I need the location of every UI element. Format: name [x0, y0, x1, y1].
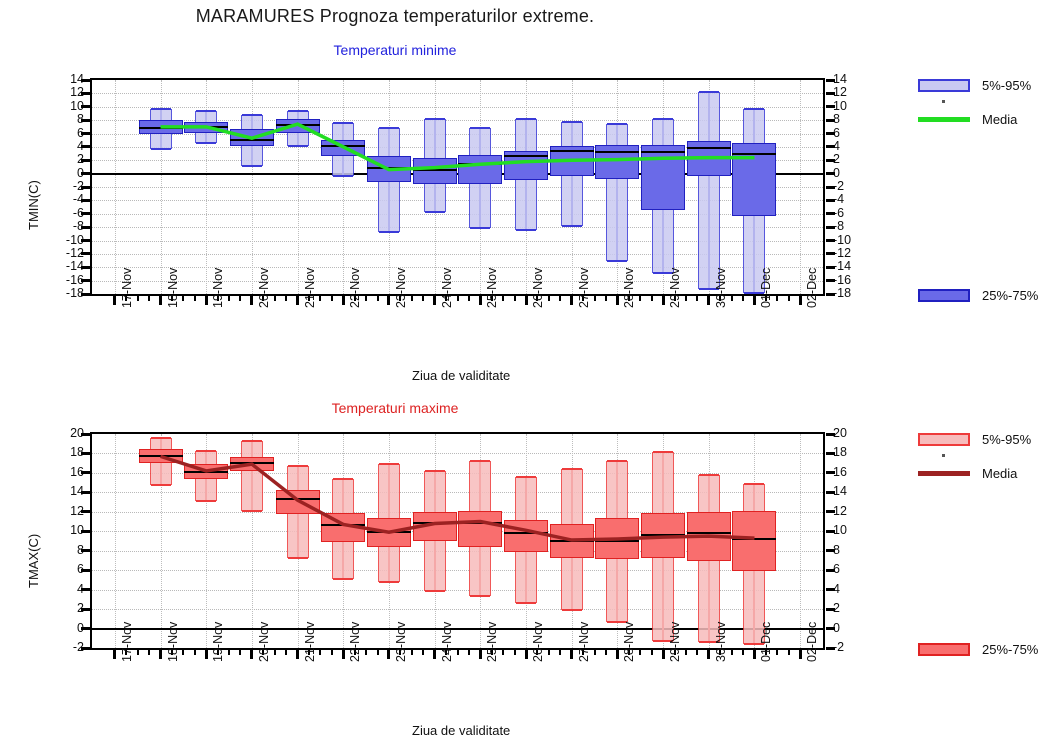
- x-tick-mark-minor: [285, 296, 287, 301]
- y-tick-label: 14: [44, 73, 84, 86]
- mean-series: [92, 80, 825, 296]
- x-tick-mark-minor: [194, 296, 196, 301]
- x-tick-label: 01-Dec: [759, 268, 773, 308]
- x-tick-mark-minor: [502, 650, 504, 655]
- x-tick-mark: [113, 650, 116, 659]
- x-tick-mark-minor: [457, 296, 459, 301]
- legend-label: 25%-75%: [982, 642, 1038, 657]
- x-tick-label: 17-Nov: [120, 268, 134, 308]
- x-tick-mark: [662, 650, 665, 659]
- y-tick-label: -12: [44, 247, 84, 260]
- x-tick-mark: [296, 296, 299, 305]
- x-tick-mark-minor: [377, 650, 379, 655]
- y-tick-mark-right: [826, 549, 835, 552]
- y-tick-mark-left: [81, 199, 90, 202]
- x-tick-mark-minor: [137, 296, 139, 301]
- x-tick-mark-minor: [319, 650, 321, 655]
- y-tick-label-right: 0: [833, 622, 873, 635]
- y-tick-mark-right: [826, 119, 835, 122]
- y-tick-mark-left: [81, 608, 90, 611]
- y-tick-label: 10: [44, 100, 84, 113]
- x-tick-mark: [525, 296, 528, 305]
- x-tick-mark-minor: [331, 296, 333, 301]
- chart-panel-tmin: Temperaturi minime TMIN(C) 1414121210108…: [0, 40, 1062, 405]
- y-tick-label: -2: [44, 641, 84, 654]
- y-tick-label: -2: [44, 180, 84, 193]
- y-tick-label-right: 10: [833, 524, 873, 537]
- y-tick-label: 8: [44, 544, 84, 557]
- x-tick-label: 20-Nov: [257, 622, 271, 662]
- x-tick-label: 21-Nov: [303, 622, 317, 662]
- y-tick-mark-left: [81, 212, 90, 215]
- plot-area-tmin: [90, 78, 825, 296]
- y-tick-mark-left: [81, 491, 90, 494]
- y-tick-mark-right: [826, 530, 835, 533]
- y-tick-label-right: -16: [833, 274, 873, 287]
- y-tick-label: 8: [44, 113, 84, 126]
- y-tick-label: 6: [44, 563, 84, 576]
- x-tick-mark-minor: [411, 296, 413, 301]
- x-tick-mark-minor: [457, 650, 459, 655]
- x-tick-label: 02-Dec: [805, 622, 819, 662]
- x-tick-mark-minor: [228, 296, 230, 301]
- legend-item-band-5-95[interactable]: 5%-95%: [918, 78, 1031, 93]
- y-tick-label-right: 16: [833, 466, 873, 479]
- x-tick-mark-minor: [559, 296, 561, 301]
- x-tick-mark: [570, 296, 573, 305]
- x-tick-mark: [296, 650, 299, 659]
- y-tick-mark-right: [826, 293, 835, 296]
- legend-label: 5%-95%: [982, 78, 1031, 93]
- y-tick-mark-left: [81, 105, 90, 108]
- y-tick-label-right: 4: [833, 583, 873, 596]
- legend-item-band-25-75[interactable]: 25%-75%: [918, 288, 1038, 303]
- x-tick-label: 18-Nov: [166, 622, 180, 662]
- y-tick-label-right: 2: [833, 153, 873, 166]
- y-tick-label-right: 18: [833, 446, 873, 459]
- x-tick-label: 27-Nov: [577, 268, 591, 308]
- y-tick-mark-left: [81, 266, 90, 269]
- y-tick-label: 2: [44, 602, 84, 615]
- x-tick-label: 29-Nov: [668, 622, 682, 662]
- plot-area-tmax: [90, 432, 825, 650]
- y-tick-mark-right: [826, 510, 835, 513]
- y-tick-label: -16: [44, 274, 84, 287]
- y-tick-mark-right: [826, 239, 835, 242]
- x-tick-mark: [205, 650, 208, 659]
- y-tick-mark-left: [81, 239, 90, 242]
- x-tick-mark-minor: [685, 296, 687, 301]
- legend-label: 5%-95%: [982, 432, 1031, 447]
- x-tick-mark-minor: [365, 650, 367, 655]
- x-tick-mark-minor: [548, 296, 550, 301]
- x-tick-label: 26-Nov: [531, 622, 545, 662]
- x-tick-mark: [250, 650, 253, 659]
- x-tick-mark: [387, 650, 390, 659]
- legend-item-band-5-95[interactable]: 5%-95%: [918, 432, 1031, 447]
- y-tick-label: 12: [44, 86, 84, 99]
- x-tick-mark-minor: [696, 296, 698, 301]
- legend-marker-dot: [942, 100, 945, 103]
- x-tick-mark: [159, 296, 162, 305]
- y-tick-label: 4: [44, 140, 84, 153]
- x-tick-mark-minor: [605, 296, 607, 301]
- x-tick-label: 17-Nov: [120, 622, 134, 662]
- x-tick-mark-minor: [274, 650, 276, 655]
- y-tick-mark-right: [826, 132, 835, 135]
- y-tick-mark-left: [81, 452, 90, 455]
- y-tick-mark-right: [826, 226, 835, 229]
- legend-item-media[interactable]: Media: [918, 112, 1017, 127]
- x-tick-label: 19-Nov: [211, 268, 225, 308]
- x-tick-label: 24-Nov: [440, 622, 454, 662]
- x-tick-mark-minor: [742, 650, 744, 655]
- x-tick-label: 19-Nov: [211, 622, 225, 662]
- y-tick-label-right: -4: [833, 193, 873, 206]
- y-axis-label-tmin: TMIN(C): [26, 180, 41, 230]
- y-tick-label-right: 4: [833, 140, 873, 153]
- x-tick-label: 22-Nov: [348, 622, 362, 662]
- y-tick-label: 6: [44, 127, 84, 140]
- page-title: MARAMURES Prognoza temperaturilor extrem…: [0, 6, 790, 27]
- x-tick-mark-minor: [731, 296, 733, 301]
- y-tick-mark-left: [81, 92, 90, 95]
- x-tick-mark-minor: [788, 650, 790, 655]
- legend-swatch-media: [918, 117, 970, 122]
- x-tick-mark-minor: [468, 296, 470, 301]
- x-tick-mark: [342, 296, 345, 305]
- x-tick-mark-minor: [422, 296, 424, 301]
- y-tick-label: 10: [44, 524, 84, 537]
- legend-item-band-25-75[interactable]: 25%-75%: [918, 642, 1038, 657]
- x-tick-mark-minor: [685, 650, 687, 655]
- x-tick-label: 23-Nov: [394, 268, 408, 308]
- y-tick-label-right: 12: [833, 86, 873, 99]
- y-tick-mark-left: [81, 252, 90, 255]
- x-tick-mark-minor: [776, 296, 778, 301]
- y-tick-label: 14: [44, 485, 84, 498]
- x-tick-mark: [433, 650, 436, 659]
- y-tick-label: -18: [44, 287, 84, 300]
- x-tick-mark-minor: [594, 650, 596, 655]
- x-tick-mark: [662, 296, 665, 305]
- x-tick-label: 22-Nov: [348, 268, 362, 308]
- y-tick-label-right: 0: [833, 167, 873, 180]
- y-tick-mark-left: [81, 186, 90, 189]
- x-tick-label: 29-Nov: [668, 268, 682, 308]
- y-tick-mark-left: [81, 145, 90, 148]
- y-tick-mark-left: [81, 627, 90, 630]
- y-tick-label-right: 10: [833, 100, 873, 113]
- y-tick-label: 12: [44, 505, 84, 518]
- x-tick-mark: [570, 650, 573, 659]
- x-tick-mark-minor: [411, 650, 413, 655]
- y-tick-mark-right: [826, 105, 835, 108]
- y-tick-label-right: 14: [833, 73, 873, 86]
- y-tick-mark-left: [81, 132, 90, 135]
- x-tick-mark: [707, 650, 710, 659]
- y-tick-mark-left: [81, 569, 90, 572]
- x-tick-mark: [707, 296, 710, 305]
- y-tick-mark-right: [826, 252, 835, 255]
- x-tick-label: 24-Nov: [440, 268, 454, 308]
- y-tick-label-right: 8: [833, 113, 873, 126]
- x-tick-mark-minor: [696, 650, 698, 655]
- x-tick-label: 02-Dec: [805, 268, 819, 308]
- x-tick-label: 23-Nov: [394, 622, 408, 662]
- y-tick-mark-left: [81, 647, 90, 650]
- y-tick-mark-right: [826, 186, 835, 189]
- chart-subtitle-tmin: Temperaturi minime: [0, 42, 790, 58]
- y-tick-mark-left: [81, 172, 90, 175]
- y-tick-label: 0: [44, 622, 84, 635]
- x-tick-mark: [250, 296, 253, 305]
- y-tick-mark-right: [826, 199, 835, 202]
- y-tick-mark-left: [81, 510, 90, 513]
- y-tick-mark-left: [81, 226, 90, 229]
- x-tick-label: 27-Nov: [577, 622, 591, 662]
- y-tick-mark-right: [826, 79, 835, 82]
- x-tick-mark: [753, 296, 756, 305]
- y-tick-label-right: -2: [833, 641, 873, 654]
- legend-swatch-25-75: [918, 289, 970, 302]
- y-tick-label-right: 12: [833, 505, 873, 518]
- x-tick-mark-minor: [594, 296, 596, 301]
- y-tick-label-right: -12: [833, 247, 873, 260]
- chart-panel-tmax: Temperaturi maxime TMAX(C) 2020181816161…: [0, 398, 1062, 753]
- x-tick-label: 28-Nov: [622, 268, 636, 308]
- y-tick-mark-right: [826, 145, 835, 148]
- y-tick-label-right: -2: [833, 180, 873, 193]
- x-tick-mark-minor: [194, 650, 196, 655]
- x-tick-label: 30-Nov: [714, 268, 728, 308]
- y-tick-mark-right: [826, 212, 835, 215]
- x-tick-mark-minor: [639, 296, 641, 301]
- x-tick-mark-minor: [639, 650, 641, 655]
- x-tick-label: 01-Dec: [759, 622, 773, 662]
- x-tick-mark-minor: [651, 650, 653, 655]
- mean-line: [161, 456, 755, 540]
- y-tick-mark-right: [826, 92, 835, 95]
- x-axis-label-tmax: Ziua de validitate: [412, 723, 510, 738]
- legend-item-media[interactable]: Media: [918, 466, 1017, 481]
- y-tick-mark-right: [826, 172, 835, 175]
- x-tick-mark-minor: [319, 296, 321, 301]
- y-tick-label: -10: [44, 234, 84, 247]
- x-tick-label: 26-Nov: [531, 268, 545, 308]
- y-tick-mark-right: [826, 608, 835, 611]
- x-tick-mark-minor: [422, 650, 424, 655]
- x-tick-mark: [342, 650, 345, 659]
- y-tick-mark-right: [826, 279, 835, 282]
- x-tick-mark-minor: [651, 296, 653, 301]
- y-tick-label: -8: [44, 220, 84, 233]
- y-tick-mark-left: [81, 549, 90, 552]
- legend-label: 25%-75%: [982, 288, 1038, 303]
- x-tick-mark: [433, 296, 436, 305]
- x-tick-mark-minor: [239, 650, 241, 655]
- x-tick-mark-minor: [148, 296, 150, 301]
- x-tick-mark-minor: [605, 650, 607, 655]
- x-tick-mark-minor: [731, 650, 733, 655]
- y-tick-mark-right: [826, 569, 835, 572]
- x-tick-mark: [525, 650, 528, 659]
- y-tick-label-right: -18: [833, 287, 873, 300]
- y-tick-label: -14: [44, 260, 84, 273]
- y-tick-mark-left: [81, 293, 90, 296]
- x-tick-mark: [113, 296, 116, 305]
- x-tick-mark: [616, 296, 619, 305]
- y-tick-mark-right: [826, 471, 835, 474]
- y-tick-label-right: 20: [833, 427, 873, 440]
- y-tick-label-right: -6: [833, 207, 873, 220]
- x-tick-mark-minor: [228, 650, 230, 655]
- y-tick-label: 20: [44, 427, 84, 440]
- x-tick-label: 18-Nov: [166, 268, 180, 308]
- y-tick-mark-right: [826, 266, 835, 269]
- mean-line: [161, 124, 755, 169]
- x-tick-mark: [799, 650, 802, 659]
- x-tick-label: 20-Nov: [257, 268, 271, 308]
- legend-swatch-5-95: [918, 79, 970, 92]
- x-tick-label: 25-Nov: [485, 268, 499, 308]
- y-tick-label: 2: [44, 153, 84, 166]
- x-tick-mark-minor: [377, 296, 379, 301]
- legend-label: Media: [982, 112, 1017, 127]
- x-tick-mark: [616, 650, 619, 659]
- x-tick-label: 25-Nov: [485, 622, 499, 662]
- y-tick-label-right: 6: [833, 563, 873, 576]
- x-tick-mark-minor: [182, 296, 184, 301]
- y-tick-mark-left: [81, 530, 90, 533]
- y-tick-label-right: -8: [833, 220, 873, 233]
- y-tick-mark-right: [826, 491, 835, 494]
- y-tick-mark-right: [826, 588, 835, 591]
- y-tick-label-right: 8: [833, 544, 873, 557]
- x-tick-label: 28-Nov: [622, 622, 636, 662]
- legend-swatch-media: [918, 471, 970, 476]
- y-tick-mark-right: [826, 159, 835, 162]
- y-tick-mark-left: [81, 588, 90, 591]
- x-tick-label: 21-Nov: [303, 268, 317, 308]
- y-tick-label: 16: [44, 466, 84, 479]
- y-tick-mark-right: [826, 452, 835, 455]
- y-tick-mark-left: [81, 433, 90, 436]
- y-tick-label-right: 6: [833, 127, 873, 140]
- x-tick-mark-minor: [331, 650, 333, 655]
- y-tick-label: 4: [44, 583, 84, 596]
- x-tick-mark-minor: [148, 650, 150, 655]
- y-tick-mark-right: [826, 627, 835, 630]
- chart-subtitle-tmax: Temperaturi maxime: [0, 400, 790, 416]
- y-tick-mark-right: [826, 433, 835, 436]
- x-tick-mark: [159, 650, 162, 659]
- x-tick-mark-minor: [468, 650, 470, 655]
- x-tick-mark-minor: [365, 296, 367, 301]
- x-tick-mark: [799, 296, 802, 305]
- x-tick-mark-minor: [514, 296, 516, 301]
- y-tick-label: -4: [44, 193, 84, 206]
- x-tick-mark: [479, 650, 482, 659]
- y-tick-label: 18: [44, 446, 84, 459]
- x-tick-mark-minor: [514, 650, 516, 655]
- x-tick-mark-minor: [559, 650, 561, 655]
- legend-marker-dot: [942, 454, 945, 457]
- y-axis-label-tmax: TMAX(C): [26, 534, 41, 588]
- x-tick-mark-minor: [182, 650, 184, 655]
- legend-label: Media: [982, 466, 1017, 481]
- y-tick-mark-left: [81, 79, 90, 82]
- y-tick-mark-left: [81, 279, 90, 282]
- y-tick-mark-left: [81, 159, 90, 162]
- x-tick-mark: [205, 296, 208, 305]
- y-tick-mark-right: [826, 647, 835, 650]
- x-tick-mark-minor: [788, 296, 790, 301]
- y-tick-label-right: -14: [833, 260, 873, 273]
- x-tick-mark-minor: [548, 650, 550, 655]
- y-tick-label: 0: [44, 167, 84, 180]
- x-tick-label: 30-Nov: [714, 622, 728, 662]
- y-tick-label-right: 14: [833, 485, 873, 498]
- x-tick-mark-minor: [137, 650, 139, 655]
- x-tick-mark: [387, 296, 390, 305]
- legend-swatch-5-95: [918, 433, 970, 446]
- x-tick-mark-minor: [239, 296, 241, 301]
- x-tick-mark-minor: [742, 296, 744, 301]
- x-tick-mark: [479, 296, 482, 305]
- x-tick-mark-minor: [502, 296, 504, 301]
- x-tick-mark: [753, 650, 756, 659]
- legend-swatch-25-75: [918, 643, 970, 656]
- y-tick-mark-left: [81, 119, 90, 122]
- y-tick-mark-left: [81, 471, 90, 474]
- x-tick-mark-minor: [285, 650, 287, 655]
- y-tick-label-right: 2: [833, 602, 873, 615]
- mean-series: [92, 434, 825, 650]
- y-tick-label: -6: [44, 207, 84, 220]
- x-axis-label-tmin: Ziua de validitate: [412, 368, 510, 383]
- y-tick-label-right: -10: [833, 234, 873, 247]
- x-tick-mark-minor: [776, 650, 778, 655]
- x-tick-mark-minor: [274, 296, 276, 301]
